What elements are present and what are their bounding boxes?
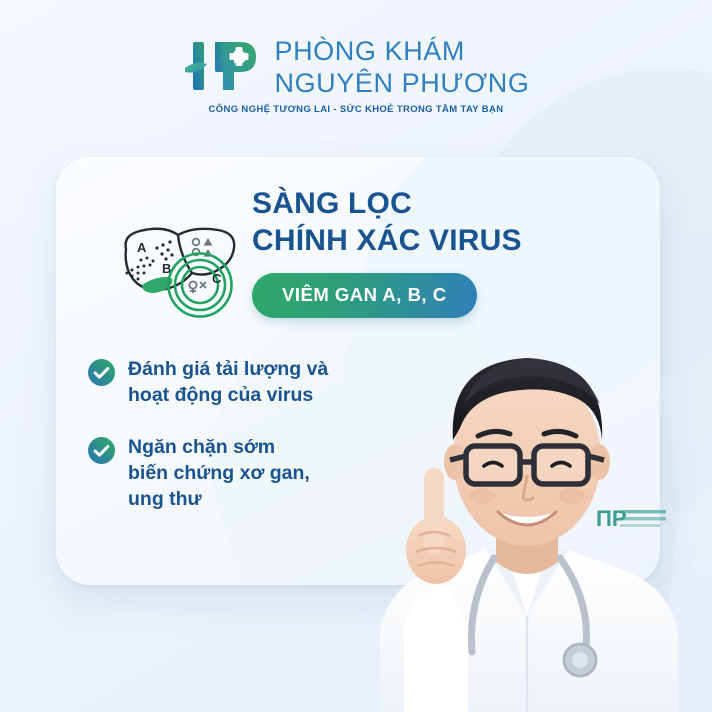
benefit-text: Đánh giá tải lượng và hoạt động của viru… xyxy=(128,357,328,409)
benefit-line: Đánh giá tải lượng và xyxy=(128,358,328,380)
brand-name-line2: NGUYÊN PHƯƠNG xyxy=(274,70,529,97)
np-clinic-coat-logo: ΠP xyxy=(596,506,666,531)
brand-header: PHÒNG KHÁM NGUYÊN PHƯƠNG xyxy=(0,34,712,100)
benefit-line: ung thư xyxy=(128,488,202,510)
brand-name-line1: PHÒNG KHÁM xyxy=(274,38,529,65)
check-circle-icon xyxy=(88,437,115,464)
card-heading-block: SÀNG LỌC CHÍNH XÁC VIRUS VIÊM GAN A, B, … xyxy=(252,185,652,318)
benefit-line: hoạt động của virus xyxy=(128,384,313,406)
check-circle-icon xyxy=(88,359,115,386)
poster-canvas: PHÒNG KHÁM NGUYÊN PHƯƠNG CÔNG NGHỆ TƯƠNG… xyxy=(0,0,712,712)
smiling-male-doctor-pointing-up: ΠP xyxy=(318,300,712,712)
brand-tagline: CÔNG NGHỆ TƯƠNG LAI - SỨC KHOẺ TRONG TẦM… xyxy=(0,104,712,115)
benefit-line: biến chứng xơ gan, xyxy=(128,462,310,484)
heading-line-2: CHÍNH XÁC VIRUS xyxy=(252,222,652,259)
logo-lockup: PHÒNG KHÁM NGUYÊN PHƯƠNG xyxy=(182,34,529,100)
benefit-text: Ngăn chặn sớm biến chứng xơ gan, ung thư xyxy=(128,435,310,513)
liver-hepatitis-screening-icon: A B xyxy=(108,215,244,325)
svg-text:A: A xyxy=(137,240,147,255)
heading-line-1: SÀNG LỌC xyxy=(252,185,652,222)
svg-text:C: C xyxy=(212,271,222,286)
brand-wordmark: PHÒNG KHÁM NGUYÊN PHƯƠNG xyxy=(274,38,529,97)
benefit-line: Ngăn chặn sớm xyxy=(128,436,275,458)
np-monogram-medical-cross-leaf-icon xyxy=(182,34,260,100)
